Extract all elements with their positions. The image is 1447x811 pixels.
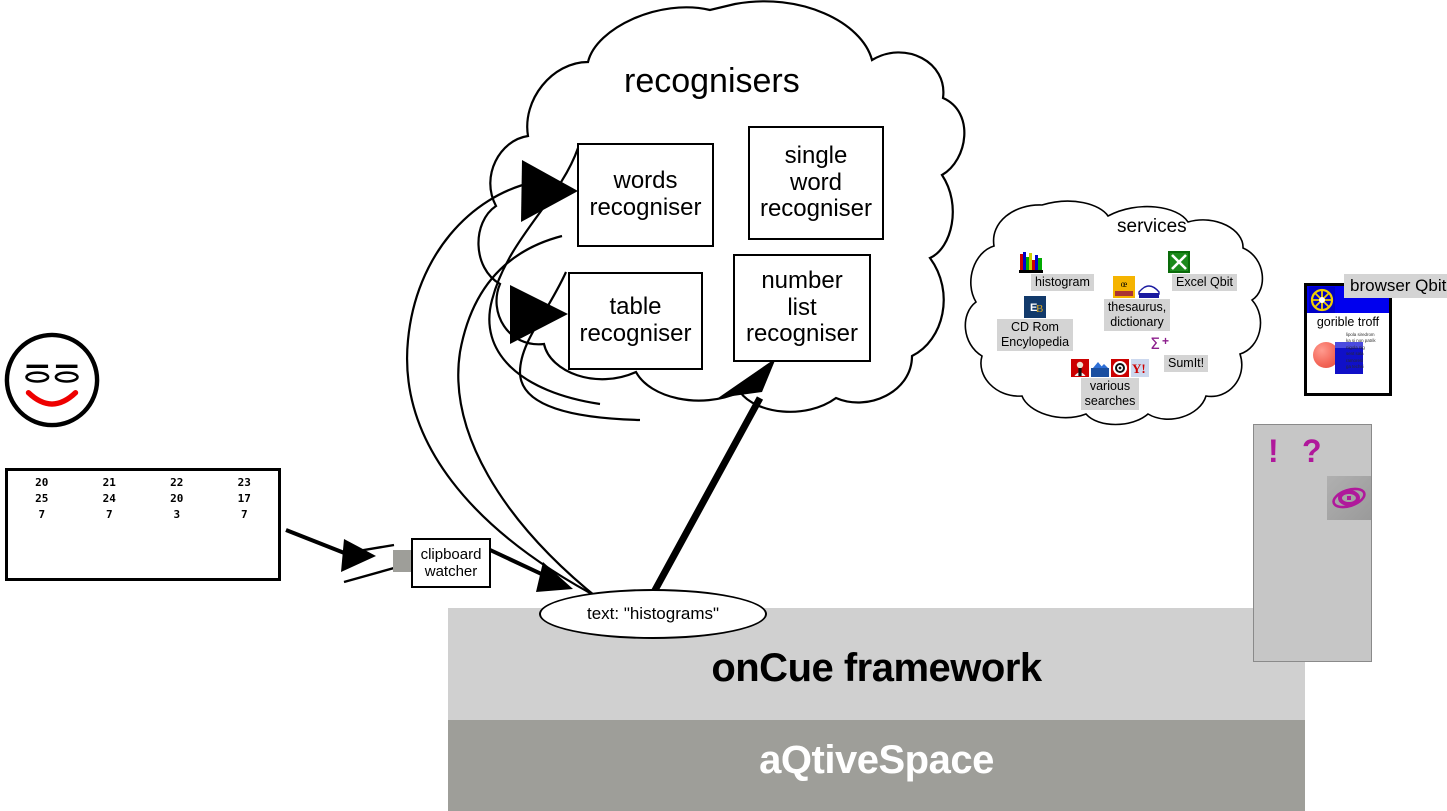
services-cloud-label: services <box>1117 216 1187 238</box>
thesaurus-label-line2: dictionary <box>1108 315 1166 330</box>
table-recogniser-line2: recogniser <box>579 321 691 348</box>
yahoo-icon: Y! <box>1131 359 1149 377</box>
service-cdrom-encyclopedia-label: CD Rom Encylopedia <box>997 319 1073 351</box>
table-cell: 7 <box>211 507 279 523</box>
service-excel-qbit-label: Excel Qbit <box>1172 274 1237 291</box>
document-text-before: the dancing <box>69 580 156 581</box>
encyclopedia-icon: E B <box>1024 296 1046 318</box>
eye-swirl-glyph <box>1330 483 1368 513</box>
searches-label-line1: various <box>1085 379 1136 394</box>
service-histogram-label: histogram <box>1031 274 1094 291</box>
table-row: 25 24 20 17 <box>8 491 278 507</box>
qbit-body-line-6: ga techsi <box>1346 364 1386 370</box>
table-recogniser-box[interactable]: table recogniser <box>568 272 703 370</box>
text-cue-ellipse[interactable]: text: "histograms" <box>539 589 767 639</box>
document-number-table: 20 21 22 23 25 24 20 17 7 7 3 7 <box>8 475 278 523</box>
table-recogniser-line1: table <box>579 294 691 321</box>
table-cell: 7 <box>8 507 76 523</box>
clipboard-watcher-line1: clipboard <box>421 546 482 563</box>
thesaurus-label-line1: thesaurus, <box>1108 300 1166 315</box>
user-smiley-face-icon <box>3 331 101 429</box>
svg-text:œ: œ <box>1121 279 1128 289</box>
single-word-recogniser-box[interactable]: single word recogniser <box>748 126 884 240</box>
encyclopedia-label-line1: CD Rom <box>1001 320 1069 335</box>
dictionary-icon <box>1137 278 1161 298</box>
suggestion-panel[interactable]: ! ? <box>1253 424 1372 662</box>
number-list-recogniser-box[interactable]: number list recogniser <box>733 254 871 362</box>
table-row: 20 21 22 23 <box>8 475 278 491</box>
service-histogram[interactable]: histogram <box>1019 251 1094 291</box>
words-recogniser-line2: recogniser <box>589 195 701 222</box>
source-document-window[interactable]: 20 21 22 23 25 24 20 17 7 7 3 7 the danc… <box>5 468 281 581</box>
table-cell: 17 <box>211 491 279 507</box>
table-row: 7 7 3 7 <box>8 507 278 523</box>
document-text-after: very useful a <box>228 580 281 581</box>
exclamation-icon[interactable]: ! <box>1268 433 1279 470</box>
recognisers-cloud-label: recognisers <box>624 62 800 101</box>
number-list-recogniser-line1: number <box>746 268 858 295</box>
table-cell: 22 <box>143 475 211 491</box>
encyclopedia-label-line2: Encylopedia <box>1001 335 1069 350</box>
service-sumit-label: SumIt! <box>1164 355 1208 372</box>
target-search-icon <box>1111 359 1129 377</box>
connector-layer <box>0 0 1447 811</box>
table-cell: 21 <box>76 475 144 491</box>
diagram-canvas: onCue framework aQtiveSpace <box>0 0 1447 811</box>
words-recogniser-box[interactable]: words recogniser <box>577 143 714 247</box>
service-various-searches[interactable]: Y! various searches <box>1068 359 1152 410</box>
svg-text:B: B <box>1036 303 1043 315</box>
table-cell: 7 <box>76 507 144 523</box>
single-word-recogniser-line3: recogniser <box>760 196 872 223</box>
askjeeves-icon <box>1071 359 1089 377</box>
document-divider <box>8 530 278 531</box>
words-recogniser-line1: words <box>589 168 701 195</box>
clipboard-watcher-connector <box>393 550 413 572</box>
netscape-wheel-icon <box>1309 287 1335 313</box>
altavista-icon <box>1091 359 1109 377</box>
single-word-recogniser-line2: word <box>760 170 872 197</box>
service-excel-qbit[interactable]: Excel Qbit <box>1168 251 1237 291</box>
service-various-searches-label: various searches <box>1081 378 1140 410</box>
excel-icon <box>1168 251 1190 273</box>
table-cell: 3 <box>143 507 211 523</box>
svg-text:Σ: Σ <box>1150 334 1160 353</box>
document-line-1: the dancing histograms very useful a <box>11 565 281 581</box>
selected-text-highlight[interactable]: histograms <box>156 580 228 581</box>
question-mark-icon[interactable]: ? <box>1302 433 1322 470</box>
table-cell: 20 <box>143 491 211 507</box>
qbit-body-text: lipola siredrom ka si non patrik nigola … <box>1346 332 1386 370</box>
thesaurus-icon: œ <box>1113 276 1135 298</box>
clipboard-watcher-box[interactable]: clipboard watcher <box>411 538 491 588</box>
service-sumit[interactable]: Σ + SumIt! <box>1150 334 1208 372</box>
qbit-page-title: gorible troff <box>1307 315 1389 329</box>
table-cell: 20 <box>8 475 76 491</box>
service-thesaurus-dictionary[interactable]: œ thesaurus, dictionary <box>1102 276 1172 331</box>
service-cdrom-encyclopedia[interactable]: E B CD Rom Encylopedia <box>993 296 1077 351</box>
eye-swirl-icon[interactable] <box>1327 476 1371 520</box>
number-list-recogniser-line3: recogniser <box>746 321 858 348</box>
document-body-text: the dancing histograms very useful a ing… <box>11 533 281 581</box>
number-list-recogniser-line2: list <box>746 295 858 322</box>
service-thesaurus-dictionary-label: thesaurus, dictionary <box>1104 299 1170 331</box>
table-cell: 24 <box>76 491 144 507</box>
single-word-recogniser-line1: single <box>760 143 872 170</box>
table-cell: 25 <box>8 491 76 507</box>
table-cell: 23 <box>211 475 279 491</box>
svg-text:+: + <box>1162 334 1169 348</box>
browser-qbit-callout-label: browser Qbit <box>1344 274 1447 298</box>
svg-text:Y!: Y! <box>1132 361 1146 376</box>
histogram-icon <box>1019 251 1043 273</box>
browser-qbit-window[interactable]: gorible troff lipola siredrom ka si non … <box>1304 283 1392 396</box>
clipboard-watcher-line2: watcher <box>421 563 482 580</box>
searches-label-line2: searches <box>1085 394 1136 409</box>
arrow-document-to-watcher <box>286 530 394 582</box>
sigma-plus-icon: Σ + <box>1150 334 1172 354</box>
text-cue-label: text: "histograms" <box>587 604 719 624</box>
